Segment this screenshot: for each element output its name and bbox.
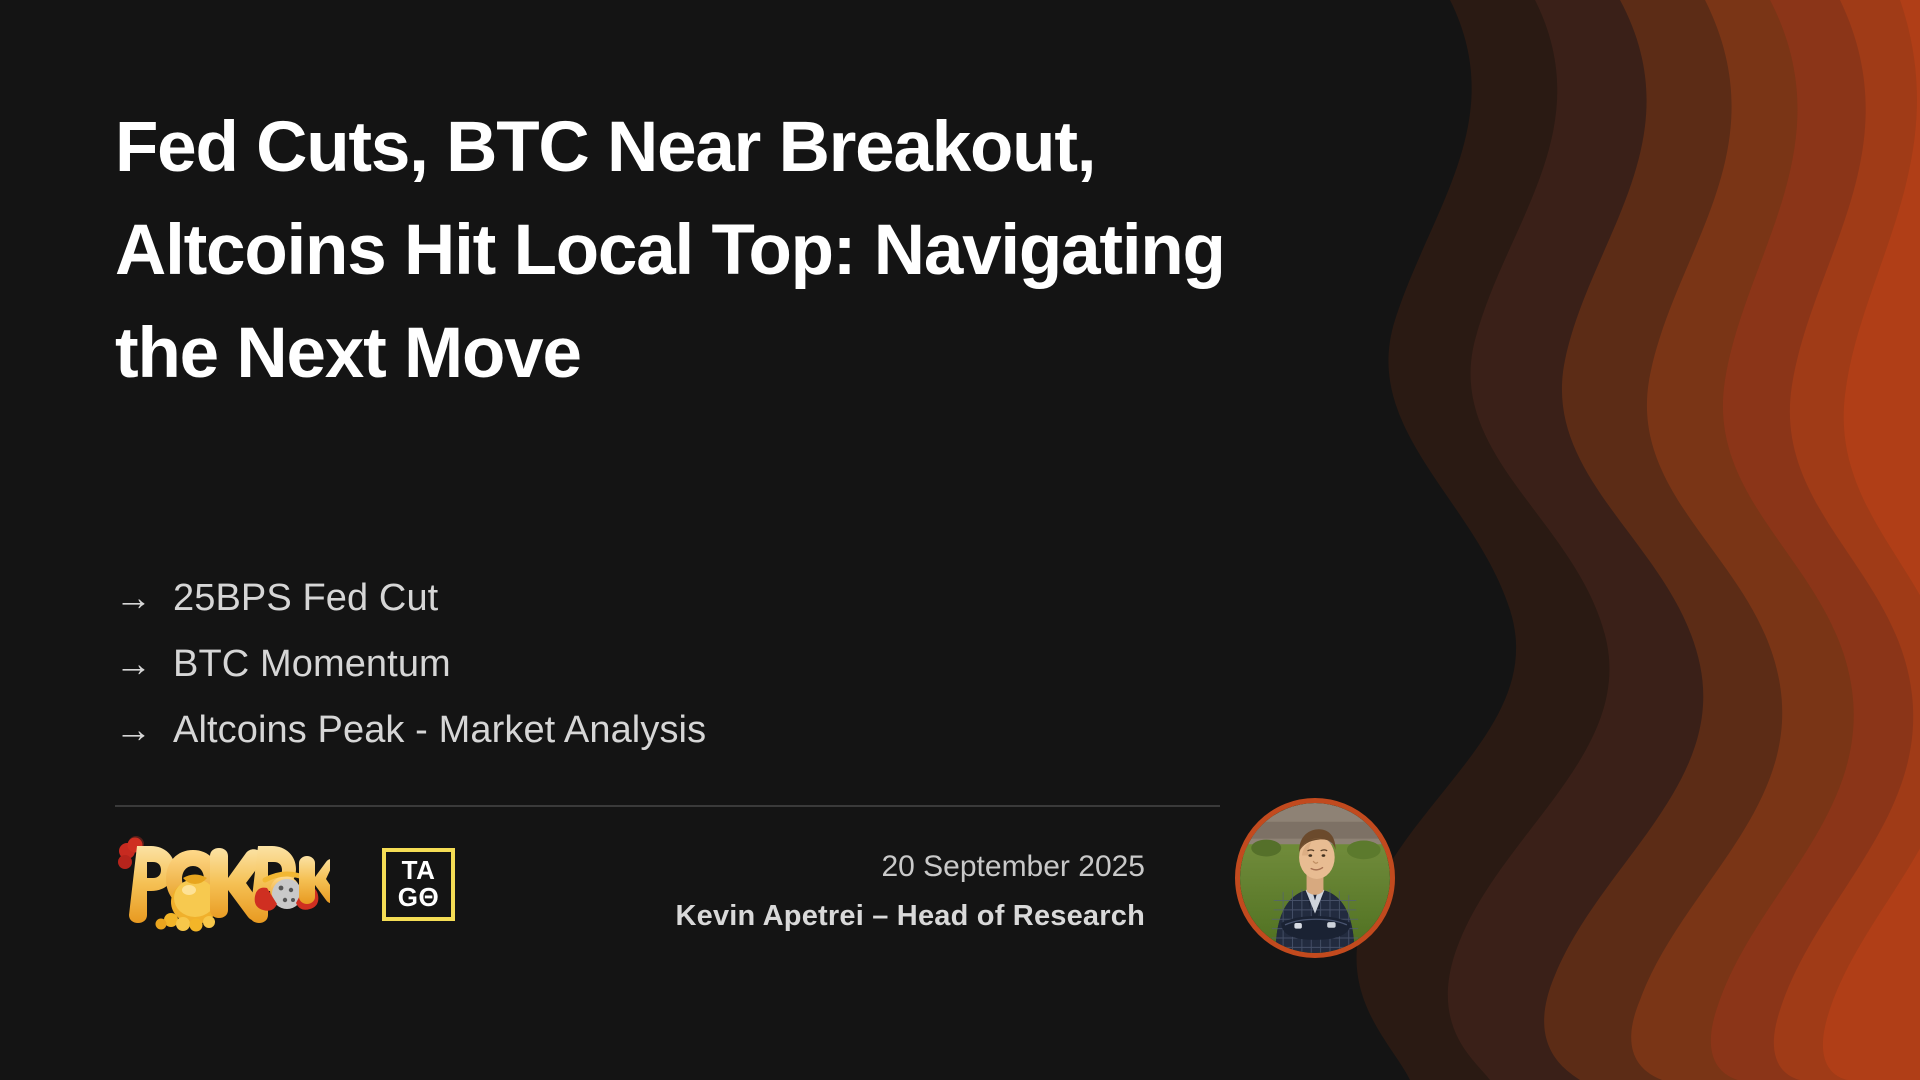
list-item: → Altcoins Peak - Market Analysis	[115, 697, 706, 763]
wave-layer-7	[1823, 0, 1920, 1080]
tago-line-1: TA	[402, 857, 436, 884]
slide-footer: TA GΘ 20 September 2025 Kevin Apetrei – …	[115, 818, 1425, 978]
wave-layer-1	[1357, 0, 1920, 1080]
list-item-label: 25BPS Fed Cut	[173, 566, 438, 631]
wave-layer-3	[1544, 0, 1920, 1080]
wave-layer-2	[1448, 0, 1920, 1080]
arrow-right-icon: →	[115, 631, 173, 696]
avatar-photo	[1240, 803, 1390, 953]
logo-group: TA GΘ	[115, 828, 455, 940]
page-title: Fed Cuts, BTC Near Breakout, Altcoins Hi…	[115, 96, 1225, 405]
wave-layer-6	[1774, 0, 1920, 1080]
slide-date: 20 September 2025	[445, 846, 1145, 888]
list-item-label: Altcoins Peak - Market Analysis	[173, 698, 706, 763]
presenter-meta: 20 September 2025 Kevin Apetrei – Head o…	[445, 846, 1145, 937]
bullet-list: → 25BPS Fed Cut → BTC Momentum → Altcoin…	[115, 565, 706, 763]
wave-layer-4	[1631, 0, 1920, 1080]
pokpok-logo	[115, 828, 330, 940]
arrow-right-icon: →	[115, 565, 173, 630]
presenter-byline: Kevin Apetrei – Head of Research	[445, 895, 1145, 937]
list-item: → 25BPS Fed Cut	[115, 565, 706, 631]
list-item-label: BTC Momentum	[173, 632, 451, 697]
wave-layer-5	[1711, 0, 1920, 1080]
presentation-slide: Fed Cuts, BTC Near Breakout, Altcoins Hi…	[0, 0, 1920, 1080]
avatar	[1235, 798, 1395, 958]
tago-line-2: GΘ	[398, 884, 439, 911]
footer-divider	[115, 805, 1220, 807]
list-item: → BTC Momentum	[115, 631, 706, 697]
arrow-right-icon: →	[115, 697, 173, 762]
